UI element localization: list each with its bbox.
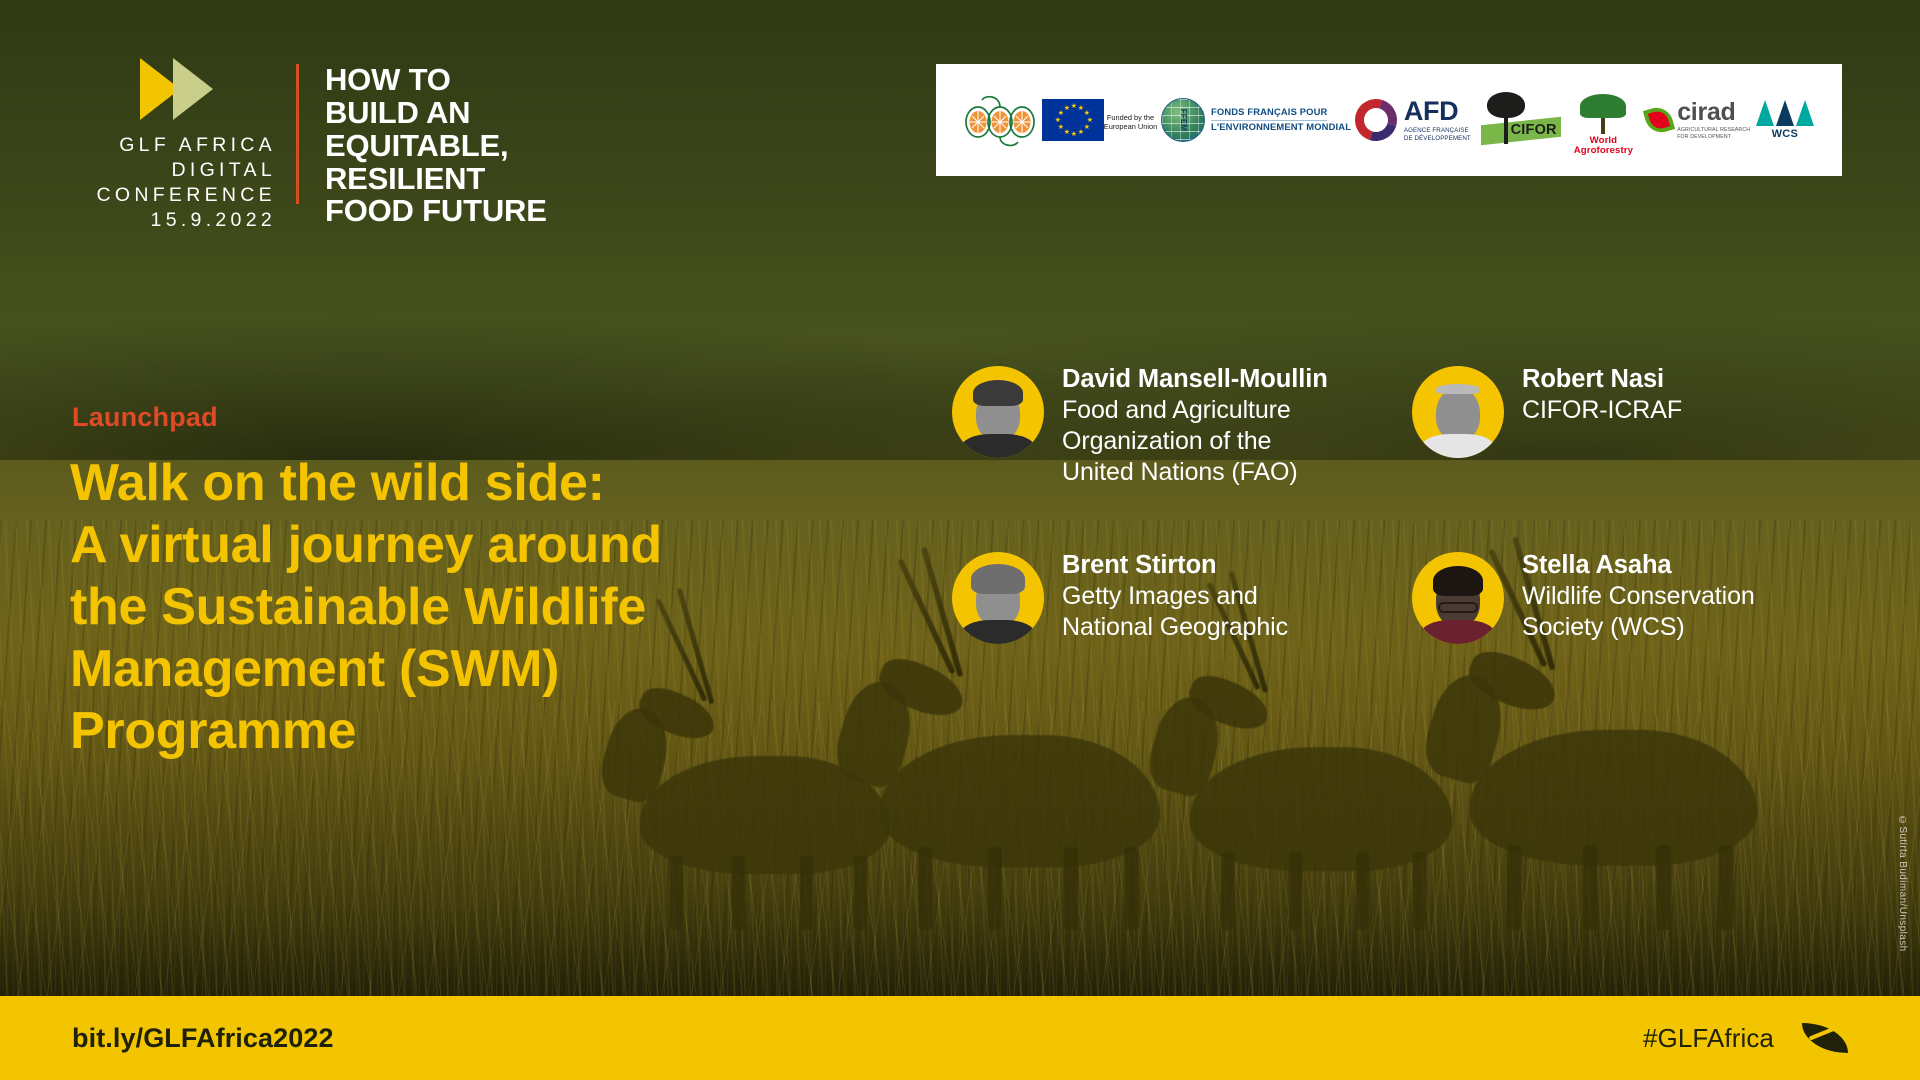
afd-wordmark: AFD xyxy=(1404,98,1471,125)
avatar-robert-nasi xyxy=(1412,366,1504,458)
glf-arrows-icon xyxy=(76,58,276,120)
glf-conference-lines: GLF AFRICA DIGITAL CONFERENCE 15.9.2022 xyxy=(76,133,276,233)
ffem-globe-icon: FFEM xyxy=(1161,98,1205,142)
cirad-leaf-icon xyxy=(1643,104,1675,136)
wcs-triangles-icon xyxy=(1754,100,1816,126)
agroforestry-tree-icon xyxy=(1580,94,1626,118)
speaker-card: Stella Asaha Wildlife Conservation Socie… xyxy=(1412,548,1832,644)
speaker-card: Robert Nasi CIFOR-ICRAF xyxy=(1412,362,1832,488)
speaker-name: David Mansell-Moullin xyxy=(1062,364,1328,395)
conference-tagline: HOW TO BUILD AN EQUITABLE, RESILIENT FOO… xyxy=(325,64,547,228)
photo-credit: ©Sutirta Budiman/Unsplash xyxy=(1897,815,1908,952)
ffem-line-2: L'ENVIRONNEMENT MONDIAL xyxy=(1211,121,1351,134)
afd-ring-icon xyxy=(1347,92,1404,149)
avatar-brent-stirton xyxy=(952,552,1044,644)
wcs-wordmark: WCS xyxy=(1754,128,1816,140)
speaker-card: David Mansell-Moullin Food and Agricultu… xyxy=(952,362,1412,488)
footer-bar: bit.ly/GLFAfrica2022 #GLFAfrica xyxy=(0,996,1920,1080)
partner-logo-strip: ★ ★ ★ ★ ★ ★ ★ ★ ★ ★ ★ ★ Funded by the Eu… xyxy=(936,64,1842,176)
speaker-name: Brent Stirton xyxy=(1062,550,1288,581)
speaker-organization: CIFOR-ICRAF xyxy=(1522,395,1682,426)
european-union-logo: ★ ★ ★ ★ ★ ★ ★ ★ ★ ★ ★ ★ Funded by the Eu… xyxy=(1042,99,1157,141)
wcs-logo: WCS xyxy=(1754,100,1816,140)
speaker-name: Stella Asaha xyxy=(1522,550,1755,581)
afd-logo: AFD AGENCE FRANÇAISE DE DÉVELOPPEMENT xyxy=(1355,98,1471,142)
cirad-subtitle: AGRICULTURAL RESEARCH FOR DEVELOPMENT xyxy=(1677,127,1750,140)
ffem-line-1: FONDS FRANÇAIS POUR xyxy=(1211,106,1327,121)
footer-url[interactable]: bit.ly/GLFAfrica2022 xyxy=(72,1023,334,1054)
session-kicker: Launchpad xyxy=(72,402,218,433)
avatar-david-mansell-moullin xyxy=(952,366,1044,458)
ffem-letters: FFEM xyxy=(1179,109,1187,132)
conference-slide: GLF AFRICA DIGITAL CONFERENCE 15.9.2022 … xyxy=(0,0,1920,1080)
footer-hashtag: #GLFAfrica xyxy=(1643,1023,1774,1054)
glf-logo-block: GLF AFRICA DIGITAL CONFERENCE 15.9.2022 … xyxy=(76,58,547,233)
session-title: Walk on the wild side: A virtual journey… xyxy=(70,452,830,762)
avatar-stella-asaha xyxy=(1412,552,1504,644)
cifor-logo: CIFOR xyxy=(1475,90,1561,150)
cirad-wordmark: cirad xyxy=(1677,100,1750,125)
afd-subtitle: AGENCE FRANÇAISE DE DÉVELOPPEMENT xyxy=(1404,127,1471,142)
world-agroforestry-logo: World Agroforestry xyxy=(1564,90,1642,150)
speaker-organization: Getty Images and National Geographic xyxy=(1062,581,1288,643)
ffem-wordmark: FONDS FRANÇAIS POUR L'ENVIRONNEMENT MOND… xyxy=(1211,106,1351,133)
ffem-logo: FFEM FONDS FRANÇAIS POUR L'ENVIRONNEMENT… xyxy=(1161,98,1351,142)
speaker-organization: Wildlife Conservation Society (WCS) xyxy=(1522,581,1755,643)
speaker-organization: Food and Agriculture Organization of the… xyxy=(1062,395,1328,488)
globallandscapesforum-leaf-icon xyxy=(1802,1019,1848,1057)
fao-logo-icon xyxy=(962,88,1038,152)
cirad-logo: cirad AGRICULTURAL RESEARCH FOR DEVELOPM… xyxy=(1646,100,1750,140)
cifor-wordmark: CIFOR xyxy=(1511,122,1557,138)
speaker-name: Robert Nasi xyxy=(1522,364,1682,395)
eu-flag-icon: ★ ★ ★ ★ ★ ★ ★ ★ ★ ★ ★ ★ xyxy=(1042,99,1104,141)
glf-logo: GLF AFRICA DIGITAL CONFERENCE 15.9.2022 xyxy=(76,58,276,233)
fao-logo xyxy=(962,88,1038,152)
speaker-list: David Mansell-Moullin Food and Agricultu… xyxy=(952,362,1832,644)
speaker-card: Brent Stirton Getty Images and National … xyxy=(952,548,1412,644)
eu-funding-caption: Funded by the European Union xyxy=(1104,113,1157,131)
logo-divider xyxy=(296,64,299,204)
world-agroforestry-wordmark: World Agroforestry xyxy=(1564,136,1642,156)
